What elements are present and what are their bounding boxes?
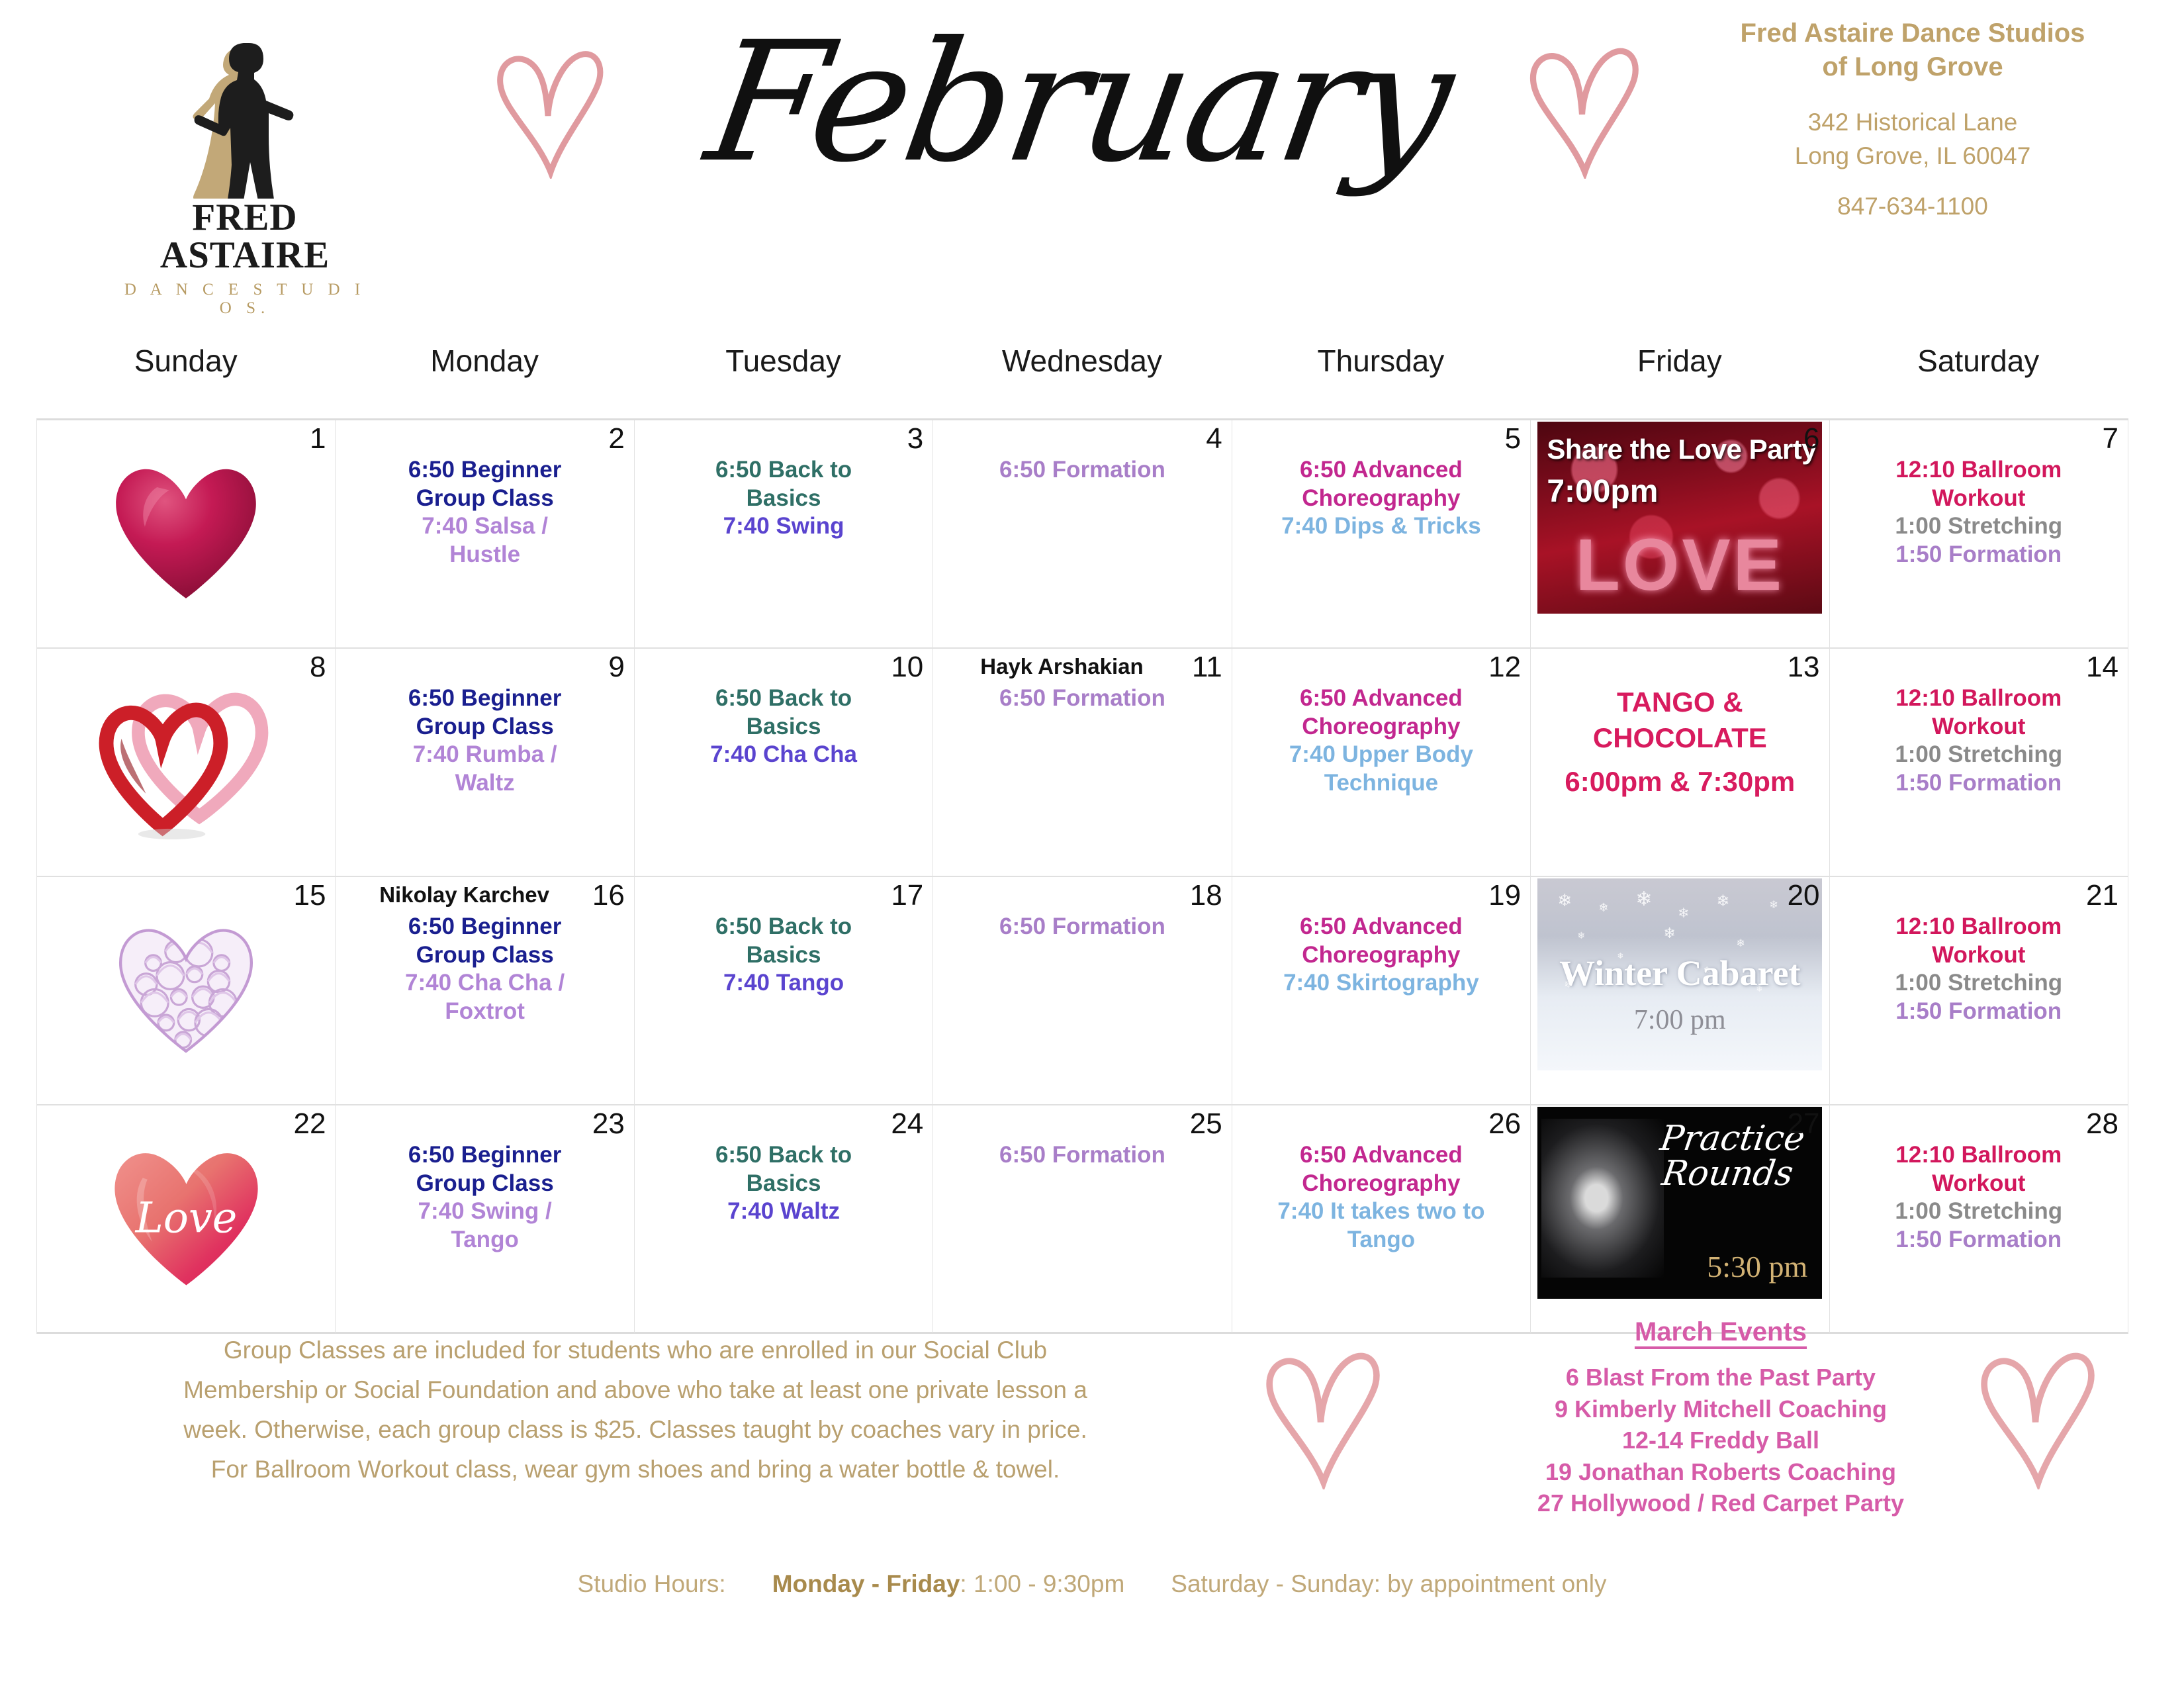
- event-line: Group Class: [342, 941, 627, 970]
- weekday-wednesday: Wednesday: [933, 343, 1231, 379]
- day-event-list: 6:50 AdvancedChoreography7:40 Dips & Tri…: [1239, 456, 1524, 541]
- event-line: 6:50 Formation: [940, 684, 1224, 713]
- march-event-item: 27 Hollywood / Red Carpet Party: [1449, 1487, 1992, 1519]
- event-line: 6:50 Advanced: [1239, 1141, 1524, 1170]
- event-line: 6:50 Beginner: [342, 1141, 627, 1170]
- calendar-day-cell[interactable]: 1: [37, 420, 336, 649]
- event-line: 6:50 Beginner: [342, 456, 627, 485]
- event-line: 1:00 Stretching: [1837, 512, 2121, 541]
- calendar-day-cell[interactable]: 176:50 Back toBasics7:40 Tango: [635, 877, 933, 1105]
- page-title: February: [675, 20, 1482, 185]
- page-footer: Group Classes are included for students …: [0, 1324, 2184, 1688]
- day-number: 12: [1488, 653, 1521, 682]
- day-number: 25: [1190, 1109, 1222, 1139]
- day-number: 4: [1206, 424, 1222, 453]
- day-number: 15: [293, 881, 326, 910]
- dancer-photo: [1541, 1119, 1664, 1278]
- event-line: 12:10 Ballroom: [1837, 684, 2121, 713]
- march-event-item: 12-14 Freddy Ball: [1449, 1425, 1992, 1456]
- weekday-thursday: Thursday: [1232, 343, 1530, 379]
- event-line: 6:50 Back to: [641, 684, 926, 713]
- logo-wordmark: FRED ASTAIRE: [113, 199, 377, 274]
- day-number: 19: [1488, 881, 1521, 910]
- event-line: Group Class: [342, 485, 627, 513]
- calendar-day-cell[interactable]: 236:50 BeginnerGroup Class7:40 Swing /Ta…: [336, 1105, 634, 1334]
- day-number: 3: [907, 424, 923, 453]
- calendar-week-row: 126:50 BeginnerGroup Class7:40 Salsa /Hu…: [37, 420, 2128, 649]
- calendar-day-cell[interactable]: 106:50 Back toBasics7:40 Cha Cha: [635, 649, 933, 877]
- day-number: 23: [592, 1109, 625, 1139]
- day-number: 2: [608, 424, 624, 453]
- event-line: 6:50 Back to: [641, 1141, 926, 1170]
- day-number: 20: [1788, 881, 1820, 910]
- calendar-week-row: 15Nikolay Karchev166:50 BeginnerGroup Cl…: [37, 877, 2128, 1105]
- share-the-love-party-flyer[interactable]: Share the Love Party 7:00pm LOVE: [1537, 422, 1822, 614]
- event-line: 7:40 Cha Cha /: [342, 969, 627, 998]
- event-line: Choreography: [1239, 1170, 1524, 1198]
- event-line: 6:50 Back to: [641, 913, 926, 941]
- event-line: 1:50 Formation: [1837, 769, 2121, 798]
- day-event-list: 6:50 BeginnerGroup Class7:40 Salsa /Hust…: [342, 456, 627, 569]
- event-line: 6:50 Advanced: [1239, 456, 1524, 485]
- day-event-list: 6:50 Formation: [940, 1141, 1224, 1170]
- day-number: 9: [608, 653, 624, 682]
- winter-cabaret-flyer[interactable]: ❄❄❄❄❄❄❄❄❄❄❄❄❄Winter Cabaret 7:00 pm: [1537, 878, 1822, 1070]
- event-line: 7:40 It takes two to: [1239, 1197, 1524, 1226]
- hearts-red-pink-pair-icon: [37, 669, 335, 854]
- march-event-item: 19 Jonathan Roberts Coaching: [1449, 1456, 1992, 1488]
- svg-text:Love: Love: [134, 1193, 237, 1242]
- day-number: 14: [2086, 653, 2118, 682]
- calendar-day-cell[interactable]: 8: [37, 649, 336, 877]
- event-line: CHOCOLATE: [1537, 720, 1822, 756]
- event-line: 1:50 Formation: [1837, 998, 2121, 1026]
- calendar-day-cell[interactable]: 2112:10 BallroomWorkout1:00 Stretching1:…: [1830, 877, 2128, 1105]
- day-number: 18: [1190, 881, 1222, 910]
- calendar-day-cell[interactable]: 196:50 AdvancedChoreography7:40 Skirtogr…: [1232, 877, 1531, 1105]
- day-event-list: 6:50 Back toBasics7:40 Tango: [641, 913, 926, 998]
- day-event-list: 6:50 Back toBasics7:40 Swing: [641, 456, 926, 541]
- day-event-list: 12:10 BallroomWorkout1:00 Stretching1:50…: [1837, 456, 2121, 569]
- event-line: Group Class: [342, 713, 627, 741]
- event-line: Basics: [641, 941, 926, 970]
- event-line: 7:40 Salsa /: [342, 512, 627, 541]
- day-event-list: 12:10 BallroomWorkout1:00 Stretching1:50…: [1837, 684, 2121, 798]
- day-event-list: 6:50 AdvancedChoreography7:40 Skirtograp…: [1239, 913, 1524, 998]
- event-line: 7:40 Waltz: [641, 1197, 926, 1226]
- calendar-day-cell[interactable]: 126:50 AdvancedChoreography7:40 Upper Bo…: [1232, 649, 1531, 877]
- weekday-friday: Friday: [1530, 343, 1829, 379]
- march-events-list: 6 Blast From the Past Party 9 Kimberly M…: [1449, 1362, 1992, 1519]
- event-line: 6:50 Formation: [940, 913, 1224, 941]
- march-events-block: March Events 6 Blast From the Past Party…: [1449, 1317, 1992, 1519]
- heart-doodle-icon-footer-left: [1257, 1337, 1383, 1489]
- flyer-time: 7:00 pm: [1537, 1004, 1822, 1036]
- fred-astaire-logo: FRED ASTAIRE D A N C E S T U D I O S.: [113, 23, 377, 318]
- calendar-day-cell[interactable]: 712:10 BallroomWorkout1:00 Stretching1:5…: [1830, 420, 2128, 649]
- day-number: 11: [1192, 653, 1222, 682]
- event-line: Workout: [1837, 1170, 2121, 1198]
- guest-coach-name: Nikolay Karchev: [336, 882, 633, 908]
- day-number: 26: [1488, 1109, 1521, 1139]
- event-line: 6:50 Back to: [641, 456, 926, 485]
- event-line: 1:00 Stretching: [1837, 741, 2121, 769]
- dancing-couple-logo-icon: [113, 23, 377, 199]
- day-number: 7: [2102, 424, 2118, 453]
- event-line: Workout: [1837, 713, 2121, 741]
- practice-rounds-flyer[interactable]: PracticeRounds 5:30 pm: [1537, 1107, 1822, 1299]
- event-line: Basics: [641, 713, 926, 741]
- studio-contact-block: Fred Astaire Dance Studios of Long Grove…: [1681, 17, 2144, 220]
- guest-coach-name: Hayk Arshakian: [933, 654, 1231, 679]
- calendar-day-cell[interactable]: 246:50 Back toBasics7:40 Waltz: [635, 1105, 933, 1334]
- event-line: 6:50 Advanced: [1239, 913, 1524, 941]
- event-line: 6:50 Formation: [940, 456, 1224, 485]
- studio-address-line1: 342 Historical Lane: [1681, 105, 2144, 139]
- event-line: 7:40 Cha Cha: [641, 741, 926, 769]
- event-line: 6:50 Formation: [940, 1141, 1224, 1170]
- calendar-week-row: 896:50 BeginnerGroup Class7:40 Rumba /Wa…: [37, 649, 2128, 877]
- event-line: Tango: [342, 1226, 627, 1254]
- day-event-list: 6:50 AdvancedChoreography7:40 It takes t…: [1239, 1141, 1524, 1254]
- logo-tagline: D A N C E S T U D I O S.: [113, 281, 377, 318]
- calendar-grid: 126:50 BeginnerGroup Class7:40 Salsa /Hu…: [36, 418, 2128, 1334]
- march-event-item: 9 Kimberly Mitchell Coaching: [1449, 1393, 1992, 1425]
- studio-hours-line: Studio Hours:Monday - Friday: 1:00 - 9:3…: [0, 1570, 2184, 1598]
- studio-hours-weekday-label: Monday - Friday: [772, 1570, 960, 1597]
- day-number: 6: [1803, 424, 1819, 453]
- studio-hours-label: Studio Hours:: [578, 1570, 726, 1597]
- heart-doodle-icon-left: [490, 36, 606, 179]
- day-number: 24: [891, 1109, 923, 1139]
- studio-name-line2: of Long Grove: [1681, 50, 2144, 84]
- event-line: 7:40 Swing /: [342, 1197, 627, 1226]
- weekday-monday: Monday: [335, 343, 633, 379]
- studio-name-line1: Fred Astaire Dance Studios: [1681, 17, 2144, 50]
- policy-line-2: Membership or Social Foundation and abov…: [99, 1370, 1171, 1410]
- flyer-love-word: LOVE: [1537, 523, 1822, 607]
- event-line: 1:00 Stretching: [1837, 969, 2121, 998]
- day-number: 5: [1505, 424, 1521, 453]
- calendar-day-cell[interactable]: 1412:10 BallroomWorkout1:00 Stretching1:…: [1830, 649, 2128, 877]
- policy-line-1: Group Classes are included for students …: [99, 1331, 1171, 1370]
- event-line: Foxtrot: [342, 998, 627, 1026]
- calendar-day-cell[interactable]: 13TANGO &CHOCOLATE6:00pm & 7:30pm: [1531, 649, 1829, 877]
- event-line: Waltz: [342, 769, 627, 798]
- day-event-list: 6:50 BeginnerGroup Class7:40 Cha Cha /Fo…: [342, 913, 627, 1026]
- heart-crimson-glossy-icon: [37, 440, 335, 626]
- page-header: FRED ASTAIRE D A N C E S T U D I O S. Fe…: [0, 0, 2184, 331]
- event-line: Basics: [641, 1170, 926, 1198]
- day-event-list: 6:50 Back toBasics7:40 Waltz: [641, 1141, 926, 1226]
- studio-hours-weekend: Saturday - Sunday: by appointment only: [1171, 1570, 1606, 1597]
- calendar-day-cell[interactable]: 26:50 BeginnerGroup Class7:40 Salsa /Hus…: [336, 420, 634, 649]
- event-line: 12:10 Ballroom: [1837, 1141, 2121, 1170]
- day-number: 13: [1788, 653, 1820, 682]
- group-class-policy-note: Group Classes are included for students …: [99, 1331, 1171, 1489]
- day-number: 21: [2086, 881, 2118, 910]
- flyer-title: Share the Love Party: [1547, 434, 1817, 465]
- calendar-day-cell[interactable]: 46:50 Formation: [933, 420, 1232, 649]
- day-event-list: TANGO &CHOCOLATE6:00pm & 7:30pm: [1537, 684, 1822, 799]
- weekday-header-row: Sunday Monday Tuesday Wednesday Thursday…: [36, 343, 2128, 379]
- event-line: Choreography: [1239, 485, 1524, 513]
- calendar-day-cell[interactable]: 56:50 AdvancedChoreography7:40 Dips & Tr…: [1232, 420, 1531, 649]
- day-number: 1: [310, 424, 326, 453]
- day-event-list: 6:50 AdvancedChoreography7:40 Upper Body…: [1239, 684, 1524, 798]
- day-number: 27: [1788, 1109, 1820, 1139]
- calendar-day-cell[interactable]: 186:50 Formation: [933, 877, 1232, 1105]
- event-line: 1:50 Formation: [1837, 1226, 2121, 1254]
- flyer-title: Winter Cabaret: [1537, 953, 1822, 994]
- day-event-list: 6:50 BeginnerGroup Class7:40 Swing /Tang…: [342, 1141, 627, 1254]
- day-number: 22: [293, 1109, 326, 1139]
- event-line: 1:50 Formation: [1837, 541, 2121, 569]
- calendar-day-cell[interactable]: ❄❄❄❄❄❄❄❄❄❄❄❄❄Winter Cabaret 7:00 pm20: [1531, 877, 1829, 1105]
- calendar-day-cell[interactable]: 266:50 AdvancedChoreography7:40 It takes…: [1232, 1105, 1531, 1334]
- studio-hours-weekday-times: : 1:00 - 9:30pm: [960, 1570, 1124, 1597]
- event-line: Tango: [1239, 1226, 1524, 1254]
- day-number: 8: [310, 653, 326, 682]
- event-line: TANGO &: [1537, 684, 1822, 720]
- event-line: Choreography: [1239, 941, 1524, 970]
- calendar-week-row: Love 22236:50 BeginnerGroup Class7:40 Sw…: [37, 1105, 2128, 1334]
- event-line: Choreography: [1239, 713, 1524, 741]
- studio-address-line2: Long Grove, IL 60047: [1681, 139, 2144, 173]
- day-number: 28: [2086, 1109, 2118, 1139]
- calendar-day-cell[interactable]: 15: [37, 877, 336, 1105]
- calendar-day-cell[interactable]: 36:50 Back toBasics7:40 Swing: [635, 420, 933, 649]
- event-line: 7:40 Skirtography: [1239, 969, 1524, 998]
- policy-line-3: week. Otherwise, each group class is $25…: [99, 1410, 1171, 1450]
- event-line: Basics: [641, 485, 926, 513]
- day-event-list: 12:10 BallroomWorkout1:00 Stretching1:50…: [1837, 913, 2121, 1026]
- event-line: Group Class: [342, 1170, 627, 1198]
- day-event-list: 6:50 Back toBasics7:40 Cha Cha: [641, 684, 926, 769]
- day-number: 16: [592, 881, 625, 910]
- event-line: 7:40 Dips & Tricks: [1239, 512, 1524, 541]
- day-event-list: 6:50 BeginnerGroup Class7:40 Rumba /Walt…: [342, 684, 627, 798]
- heart-doodle-icon-footer-right: [1972, 1337, 2098, 1489]
- event-line: 7:40 Upper Body: [1239, 741, 1524, 769]
- event-line: 7:40 Rumba /: [342, 741, 627, 769]
- calendar-day-cell[interactable]: 2812:10 BallroomWorkout1:00 Stretching1:…: [1830, 1105, 2128, 1334]
- event-line: 12:10 Ballroom: [1837, 913, 2121, 941]
- day-number: 10: [891, 653, 923, 682]
- event-line: Hustle: [342, 541, 627, 569]
- heart-doodle-icon-right: [1522, 33, 1641, 179]
- flyer-time: 5:30 pm: [1707, 1249, 1807, 1284]
- event-spacer: [1537, 756, 1822, 764]
- march-events-title: March Events: [1449, 1317, 1992, 1347]
- event-line: 7:40 Swing: [641, 512, 926, 541]
- event-line: 6:00pm & 7:30pm: [1537, 764, 1822, 800]
- studio-phone[interactable]: 847-634-1100: [1681, 193, 2144, 220]
- weekday-sunday: Sunday: [36, 343, 335, 379]
- policy-line-4: For Ballroom Workout class, wear gym sho…: [99, 1450, 1171, 1489]
- day-event-list: 6:50 Formation: [940, 684, 1224, 713]
- event-line: 12:10 Ballroom: [1837, 456, 2121, 485]
- calendar-day-cell[interactable]: 256:50 Formation: [933, 1105, 1232, 1334]
- day-number: 17: [891, 881, 923, 910]
- weekday-saturday: Saturday: [1829, 343, 2128, 379]
- event-line: 6:50 Beginner: [342, 913, 627, 941]
- event-line: 7:40 Tango: [641, 969, 926, 998]
- day-event-list: 6:50 Formation: [940, 456, 1224, 485]
- day-event-list: 12:10 BallroomWorkout1:00 Stretching1:50…: [1837, 1141, 2121, 1254]
- weekday-tuesday: Tuesday: [634, 343, 933, 379]
- calendar-day-cell[interactable]: 96:50 BeginnerGroup Class7:40 Rumba /Wal…: [336, 649, 634, 877]
- calendar-day-cell[interactable]: Nikolay Karchev166:50 BeginnerGroup Clas…: [336, 877, 634, 1105]
- event-line: Workout: [1837, 485, 2121, 513]
- day-event-list: 6:50 Formation: [940, 913, 1224, 941]
- event-line: Workout: [1837, 941, 2121, 970]
- event-line: 1:00 Stretching: [1837, 1197, 2121, 1226]
- calendar-day-cell[interactable]: PracticeRounds 5:30 pm27: [1531, 1105, 1829, 1334]
- calendar-day-cell[interactable]: Hayk Arshakian116:50 Formation: [933, 649, 1232, 877]
- march-event-item: 6 Blast From the Past Party: [1449, 1362, 1992, 1393]
- event-line: 6:50 Beginner: [342, 684, 627, 713]
- event-line: 6:50 Advanced: [1239, 684, 1524, 713]
- heart-watercolor-love-icon: Love: [37, 1125, 335, 1311]
- heart-filigree-lilac-icon: [37, 897, 335, 1082]
- flyer-time: 7:00pm: [1547, 473, 1658, 510]
- calendar-day-cell[interactable]: Share the Love Party 7:00pm LOVE6: [1531, 420, 1829, 649]
- event-line: Technique: [1239, 769, 1524, 798]
- calendar-day-cell[interactable]: Love 22: [37, 1105, 336, 1334]
